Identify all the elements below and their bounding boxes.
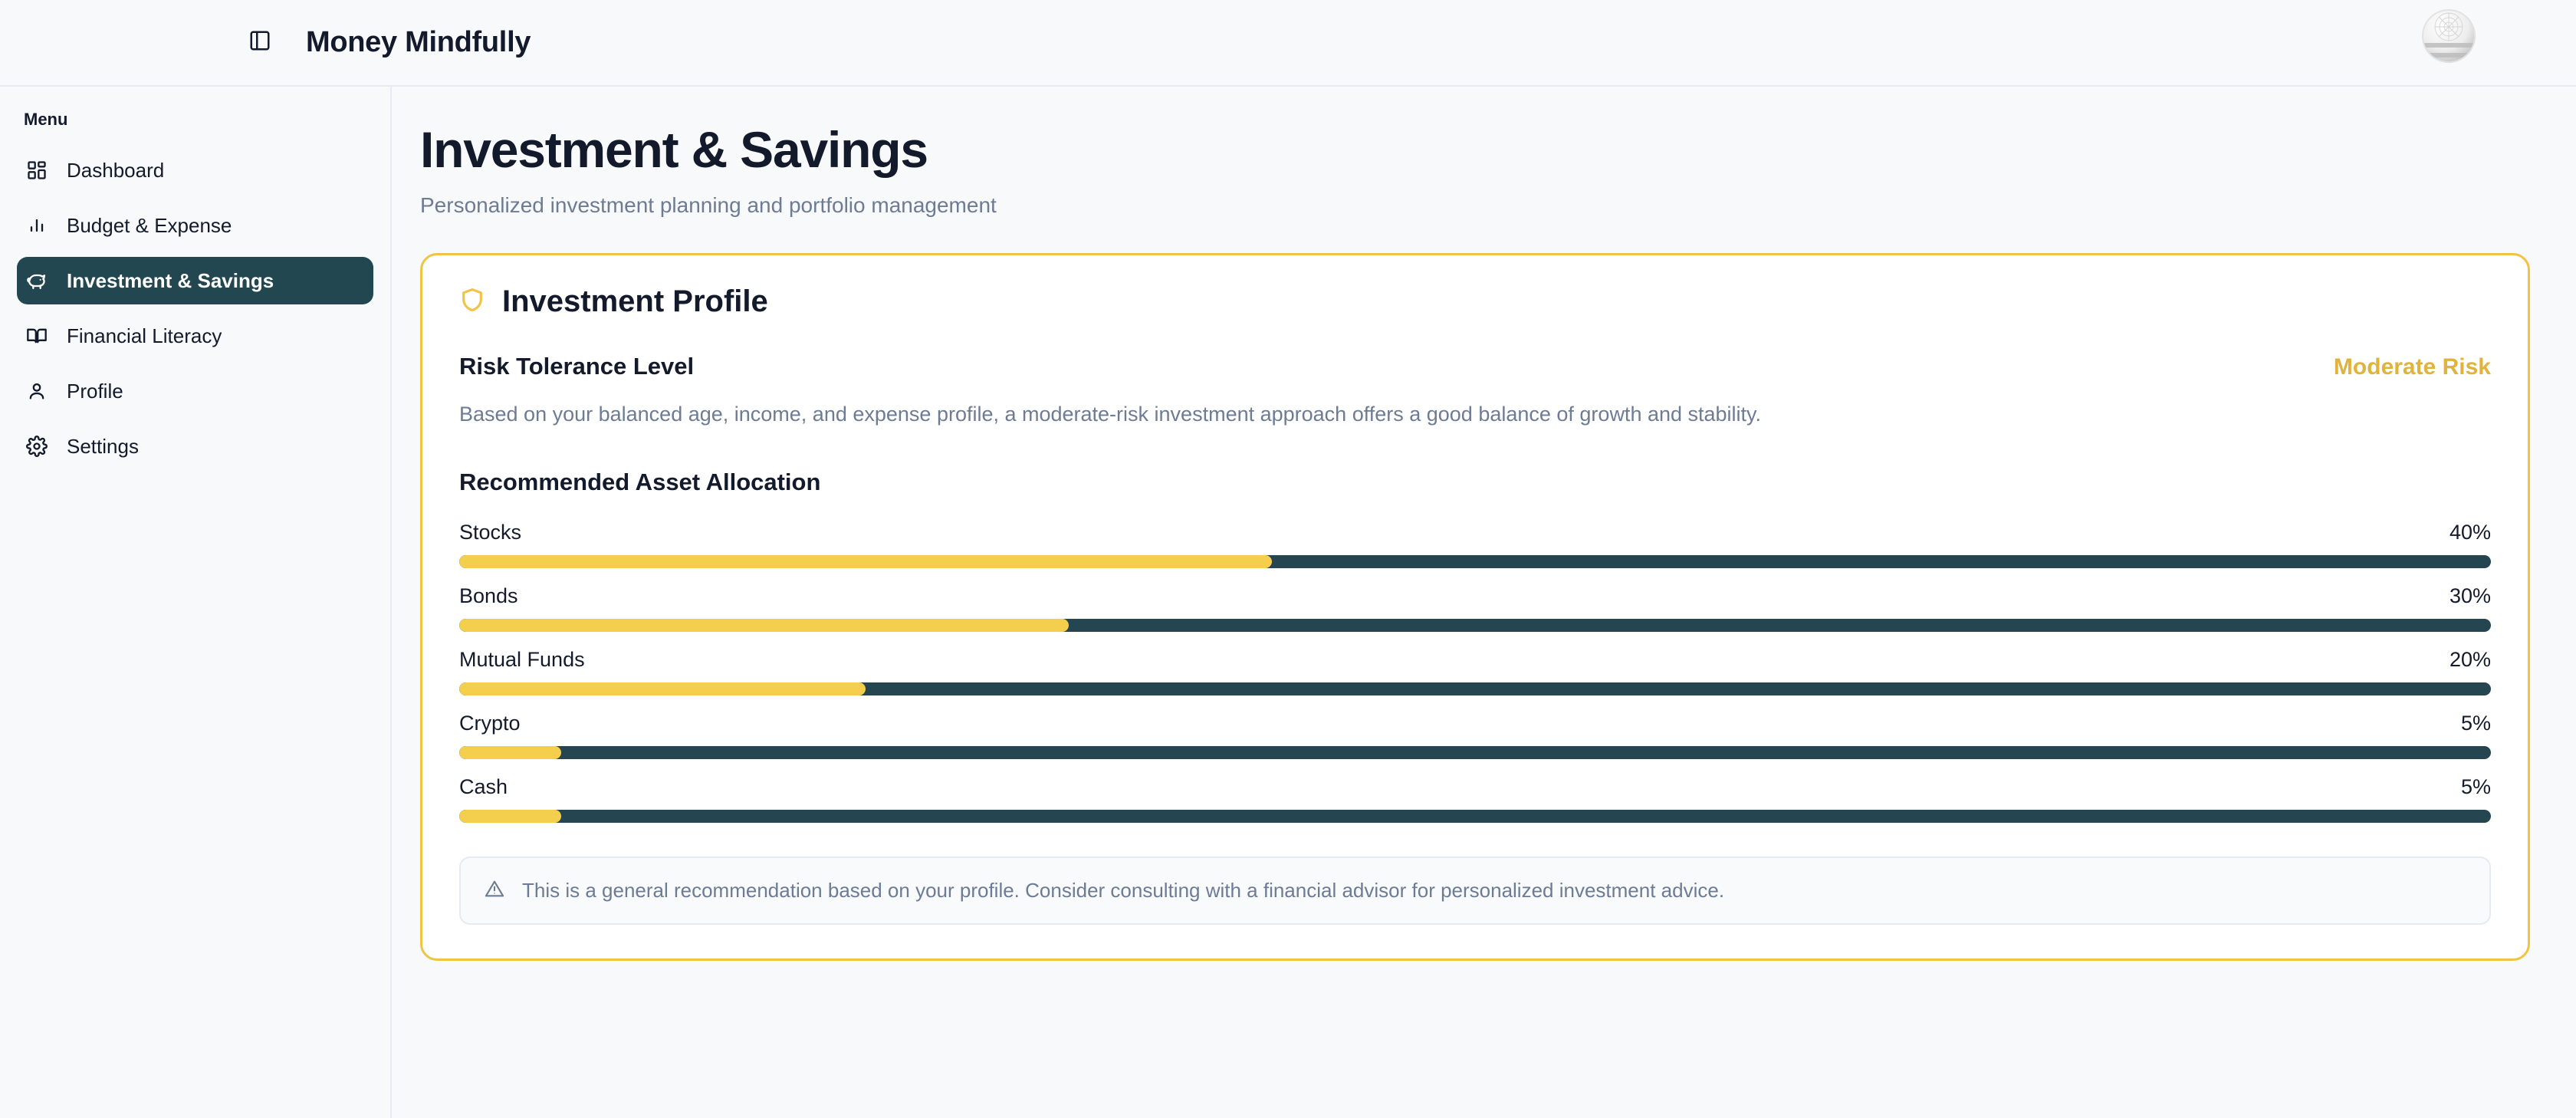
allocation-value: 20% <box>2449 648 2491 672</box>
allocation-progress-fill <box>459 619 1069 632</box>
investment-profile-card: Investment Profile Risk Tolerance Level … <box>420 253 2530 960</box>
sidebar-item-label: Financial Literacy <box>67 324 222 348</box>
allocation-label: Cash <box>459 775 508 799</box>
allocation-progress-track <box>459 746 2491 759</box>
sidebar-item-profile[interactable]: Profile <box>17 367 373 415</box>
sidebar: Menu Dashboard Budget & Ex <box>0 87 392 1118</box>
disclaimer-text: This is a general recommendation based o… <box>522 879 1724 903</box>
sidebar-item-budget-expense[interactable]: Budget & Expense <box>17 202 373 249</box>
page-title: Investment & Savings <box>420 123 2532 176</box>
main-content: Investment & Savings Personalized invest… <box>393 87 2576 1118</box>
allocation-value: 40% <box>2449 521 2491 544</box>
sidebar-toggle-button[interactable] <box>243 26 277 60</box>
piggy-bank-icon <box>24 268 50 294</box>
allocation-value: 5% <box>2461 775 2491 799</box>
allocation-label: Stocks <box>459 521 521 544</box>
allocation-value: 5% <box>2461 712 2491 735</box>
allocation-label: Crypto <box>459 712 521 735</box>
allocation-row: Cash 5% <box>459 775 2491 823</box>
shield-icon <box>459 287 485 317</box>
sidebar-item-label: Budget & Expense <box>67 214 232 238</box>
gear-icon <box>24 433 50 459</box>
allocation-value: 30% <box>2449 584 2491 608</box>
status-badge: Moderate Risk <box>2334 354 2491 380</box>
bar-chart-icon <box>24 212 50 238</box>
risk-description: Based on your balanced age, income, and … <box>459 400 2491 428</box>
risk-tolerance-label: Risk Tolerance Level <box>459 353 694 380</box>
allocation-progress-fill <box>459 682 866 695</box>
allocation-progress-track <box>459 682 2491 695</box>
allocation-progress-fill <box>459 810 561 823</box>
card-title: Investment Profile <box>502 284 768 319</box>
sidebar-nav: Dashboard Budget & Expense <box>0 146 390 470</box>
allocation-list: Stocks 40% Bonds 30% Mutual Funds <box>459 521 2491 823</box>
card-header: Investment Profile <box>459 284 2491 319</box>
panel-left-icon <box>248 29 271 56</box>
top-bar: Money Mindfully <box>0 0 2576 87</box>
allocation-row: Bonds 30% <box>459 584 2491 632</box>
avatar[interactable] <box>2422 9 2476 63</box>
sidebar-item-label: Settings <box>67 435 139 459</box>
allocation-progress-track <box>459 555 2491 568</box>
user-avatar-image <box>2422 9 2476 63</box>
sidebar-item-investment-savings[interactable]: Investment & Savings <box>17 257 373 304</box>
allocation-progress-track <box>459 810 2491 823</box>
sidebar-item-label: Profile <box>67 380 123 403</box>
allocation-progress-track <box>459 619 2491 632</box>
sidebar-item-settings[interactable]: Settings <box>17 423 373 470</box>
allocation-label: Bonds <box>459 584 518 608</box>
allocation-row: Crypto 5% <box>459 712 2491 759</box>
allocation-row: Stocks 40% <box>459 521 2491 568</box>
allocation-title: Recommended Asset Allocation <box>459 469 2491 496</box>
book-open-icon <box>24 323 50 349</box>
page-subtitle: Personalized investment planning and por… <box>420 193 2532 218</box>
app-title: Money Mindfully <box>306 26 531 59</box>
sidebar-item-label: Investment & Savings <box>67 269 274 293</box>
risk-tolerance-row: Risk Tolerance Level Moderate Risk <box>459 353 2491 380</box>
allocation-progress-fill <box>459 746 561 759</box>
sidebar-item-label: Dashboard <box>67 159 164 182</box>
sidebar-item-dashboard[interactable]: Dashboard <box>17 146 373 194</box>
allocation-progress-fill <box>459 555 1272 568</box>
alert-triangle-icon <box>484 878 505 903</box>
user-icon <box>24 378 50 404</box>
sidebar-item-financial-literacy[interactable]: Financial Literacy <box>17 312 373 360</box>
sidebar-section-label: Menu <box>24 110 390 130</box>
allocation-label: Mutual Funds <box>459 648 585 672</box>
allocation-row: Mutual Funds 20% <box>459 648 2491 695</box>
disclaimer-note: This is a general recommendation based o… <box>459 857 2491 925</box>
layout-dashboard-icon <box>24 157 50 183</box>
